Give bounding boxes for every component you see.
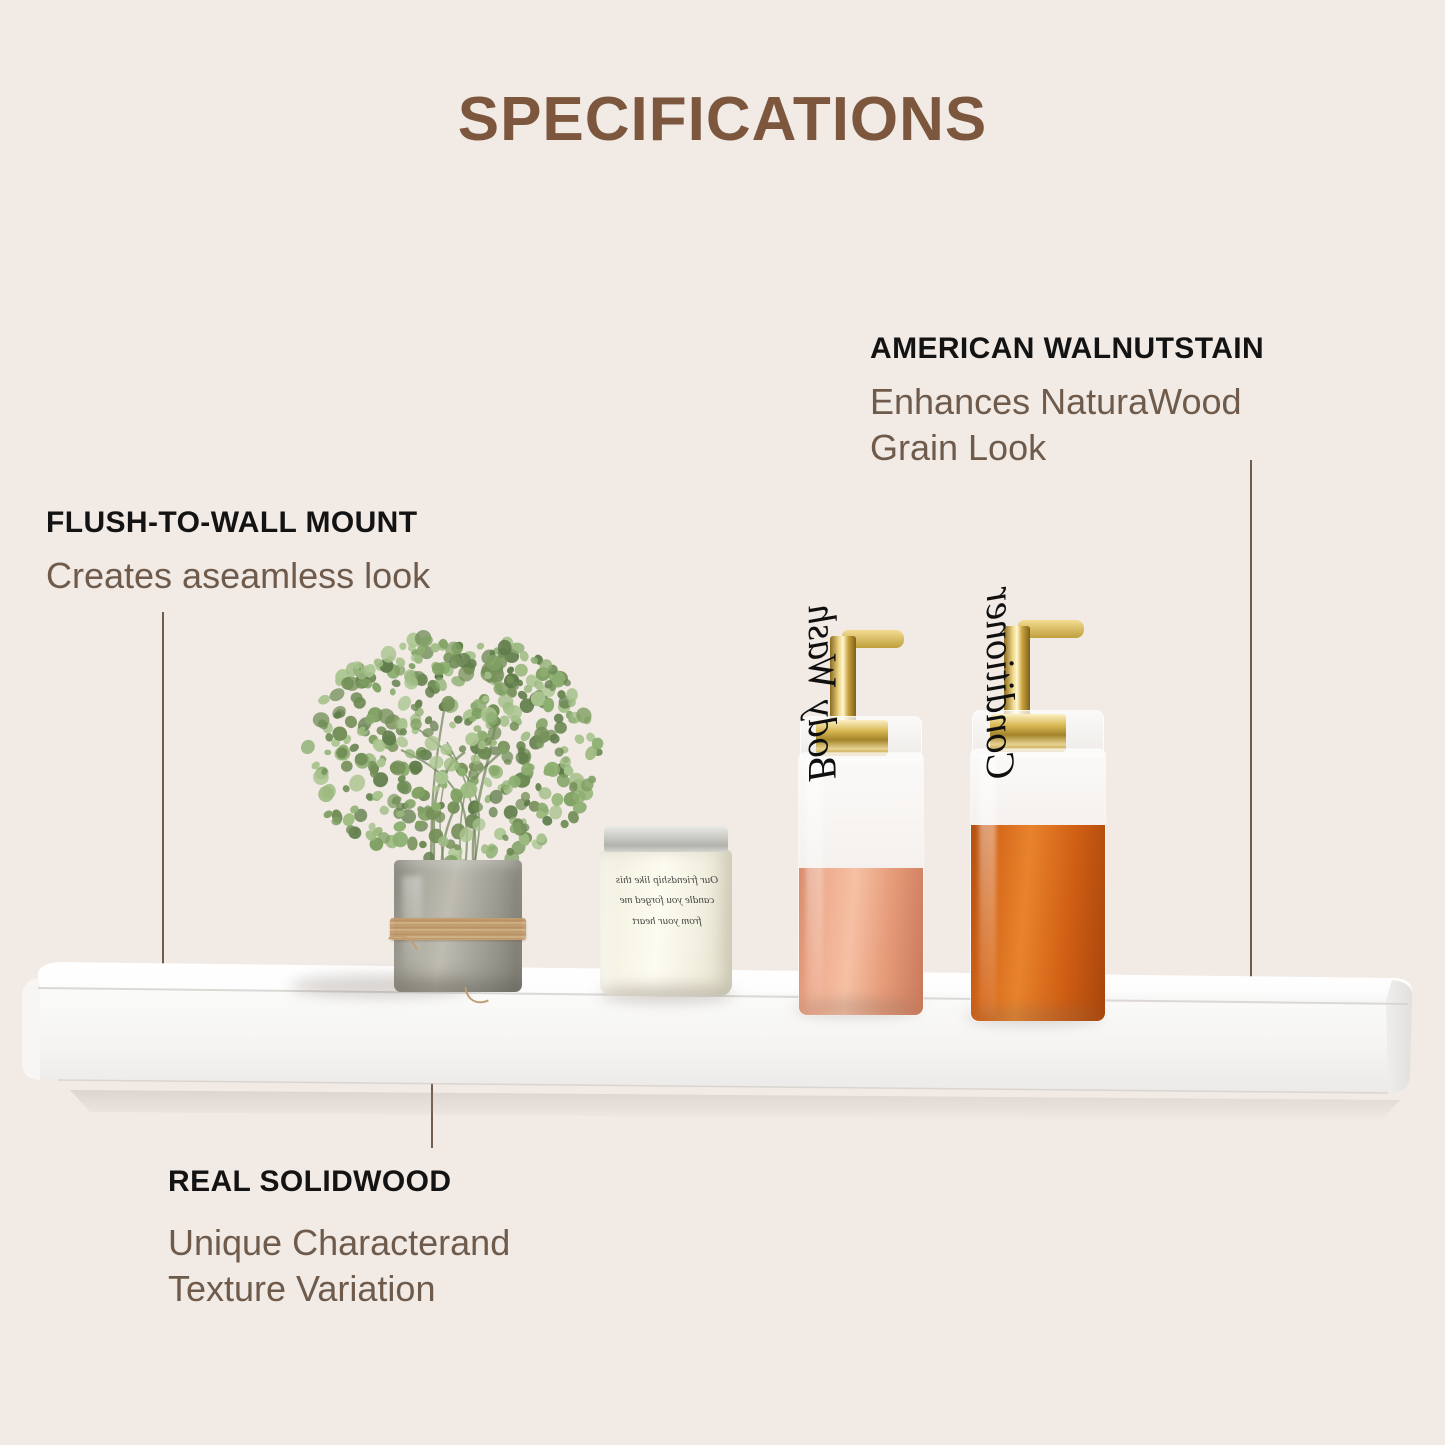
bottle-body bbox=[970, 748, 1106, 1022]
callout-real-solid-wood: REAL SOLIDWOOD Unique Characterand Textu… bbox=[168, 1165, 510, 1312]
callout-body-line1: Unique Characterand bbox=[168, 1220, 510, 1266]
candle-jar: Our friendship like this candle you forg… bbox=[598, 826, 734, 998]
callout-flush-to-wall-mount: FLUSH-TO-WALL MOUNT Creates aseamless lo… bbox=[46, 506, 430, 599]
callout-body-line1: Enhances NaturaWood bbox=[870, 379, 1264, 425]
candle-label: Our friendship like this candle you forg… bbox=[612, 870, 722, 982]
callout-body-line2: Grain Look bbox=[870, 425, 1264, 471]
pot-twine bbox=[390, 918, 526, 940]
callout-heading: REAL SOLIDWOOD bbox=[168, 1165, 510, 1198]
bottle-gloss bbox=[979, 754, 996, 1015]
callout-body-line1: Creates aseamless look bbox=[46, 553, 430, 599]
candle-lid bbox=[604, 826, 728, 852]
bottle-gloss bbox=[806, 758, 822, 1010]
callout-body: Creates aseamless look bbox=[46, 553, 430, 599]
leader-line-flush bbox=[162, 612, 164, 966]
candle-contact-shadow bbox=[600, 985, 734, 1003]
callout-body: Enhances NaturaWood Grain Look bbox=[870, 379, 1264, 471]
callout-american-walnut-stain: AMERICAN WALNUTSTAIN Enhances NaturaWood… bbox=[870, 332, 1264, 471]
bottle-label-text: Body Wash bbox=[799, 605, 846, 782]
page-title: SPECIFICATIONS bbox=[0, 84, 1445, 155]
bodywash-contact-shadow bbox=[794, 1000, 920, 1016]
bottle-label-text: Conditioner bbox=[977, 587, 1024, 780]
callout-heading: AMERICAN WALNUTSTAIN bbox=[870, 332, 1264, 365]
plant-contact-shadow bbox=[290, 975, 470, 997]
body-wash-dispenser: Body Wash bbox=[790, 620, 930, 1020]
callout-body-line2: Texture Variation bbox=[168, 1266, 510, 1312]
callout-body: Unique Characterand Texture Variation bbox=[168, 1220, 510, 1312]
callout-heading: FLUSH-TO-WALL MOUNT bbox=[46, 506, 430, 539]
potted-plant bbox=[282, 612, 622, 997]
infographic-canvas: SPECIFICATIONS AMERICAN WALNUTSTAIN Enha… bbox=[0, 0, 1445, 1445]
conditioner-dispenser: Conditioner bbox=[962, 612, 1114, 1024]
conditioner-contact-shadow bbox=[966, 1008, 1102, 1024]
bottle-body bbox=[798, 752, 924, 1016]
